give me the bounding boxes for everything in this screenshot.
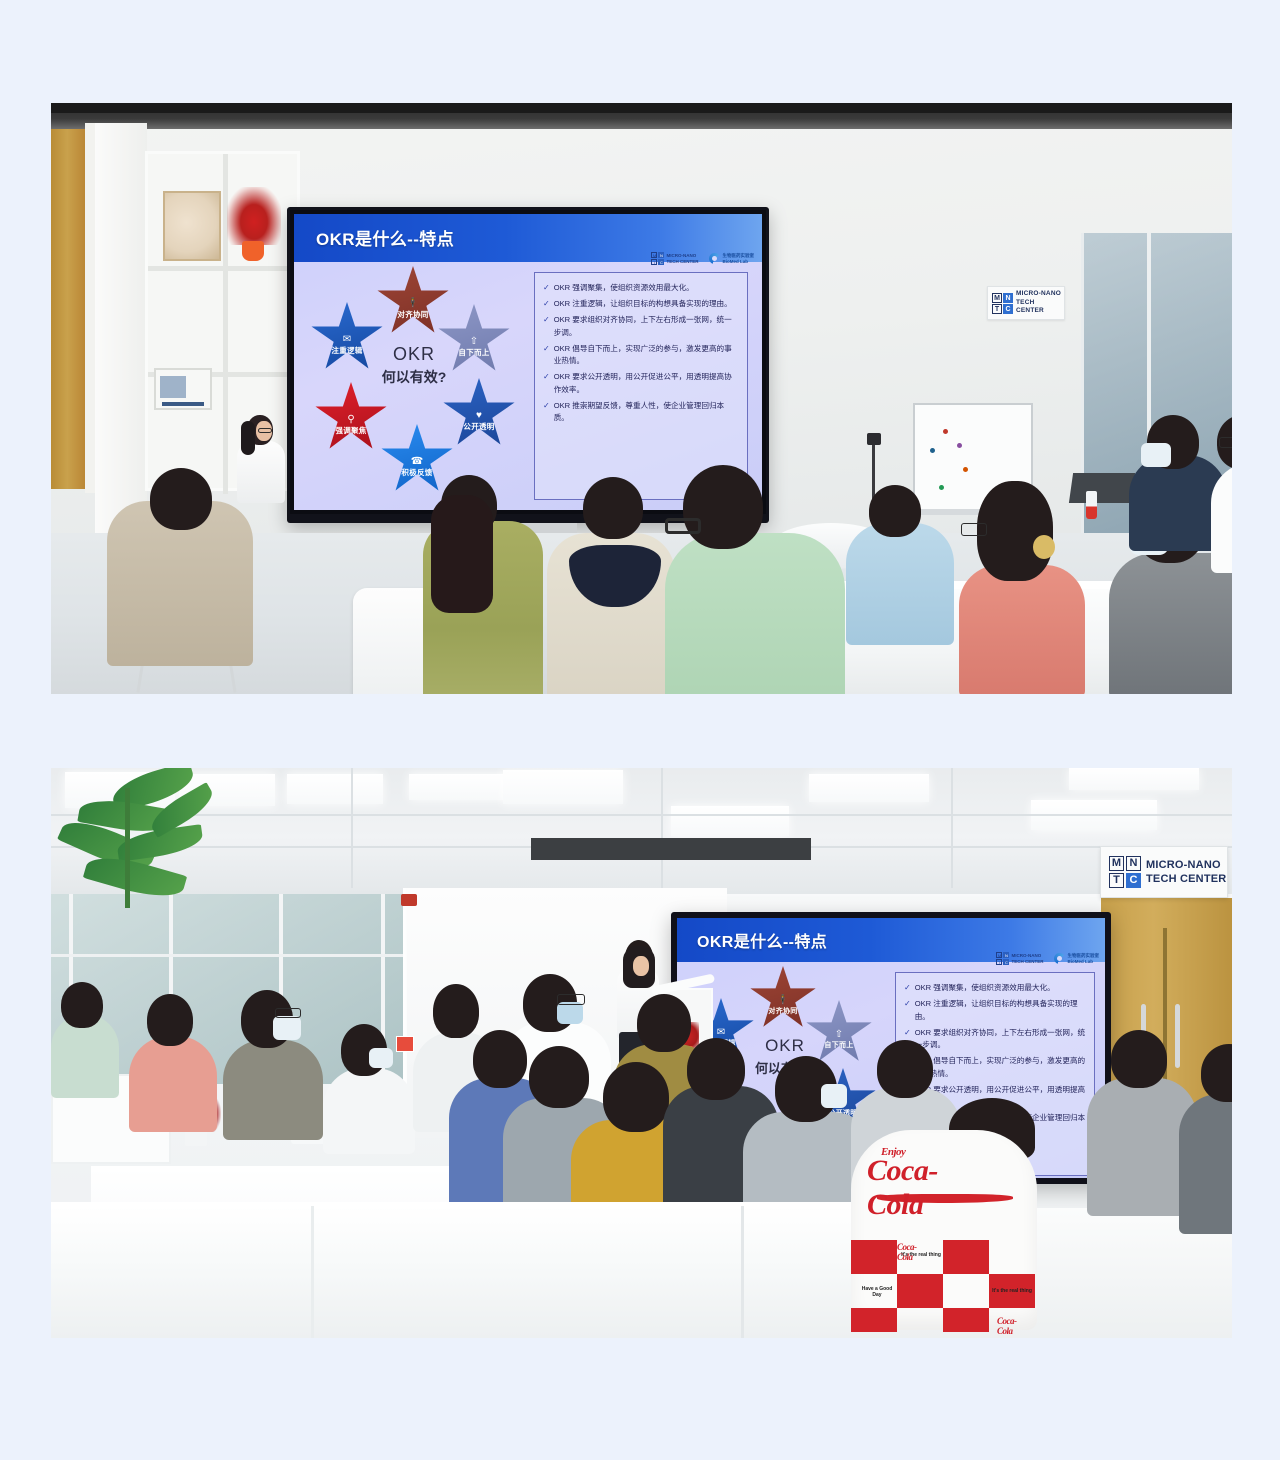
jacket-brand-script: Coca-Cola (867, 1154, 938, 1222)
slide-title: OKR是什么--特点 (697, 928, 827, 952)
sign-line-2: TECH CENTER (1146, 872, 1226, 886)
attendee-head (687, 1038, 745, 1100)
presenter-face (633, 956, 649, 976)
attendee-body (959, 565, 1085, 694)
face-mask (1141, 443, 1171, 467)
mail-icon: ✉ (717, 1027, 725, 1038)
jacket-small-brand: Coca-Cola (897, 1242, 917, 1262)
jacket-slogan: It's the real thing (991, 1288, 1033, 1294)
mail-icon: ✉ (343, 334, 351, 345)
center-line-1: OKR (368, 344, 460, 365)
check-icon: ✓ (543, 371, 550, 396)
ceiling-light-panel (809, 774, 929, 802)
ceiling-grid-line (661, 768, 663, 888)
attendee-hair (431, 495, 493, 613)
ceiling-grid-line (951, 768, 953, 888)
biomed-line-1: 生物医药实验室 (1068, 953, 1100, 959)
okr-star-diagram: 🕴 对齐协同 ⇧ 自下而上 ♥ 公开透明 ☎ 积极反馈 (306, 266, 521, 504)
page-root: OKR是什么--特点 M N T C MICRO-NANO TECH CENTE… (0, 0, 1280, 1460)
check-icon: ✓ (543, 400, 550, 425)
ceiling-grid-line (351, 768, 353, 888)
attendee-head (150, 468, 212, 530)
attendee-glasses (275, 1008, 301, 1018)
magnet-dot (930, 448, 935, 453)
star-label: 对齐协同 (768, 1007, 797, 1016)
fire-alarm-call-point (396, 1036, 414, 1052)
logo-line-2: TECH CENTER (1011, 959, 1043, 965)
bullet-text: OKR 强调聚集，使组织资源效用最大化。 (915, 982, 1055, 995)
ceiling-light-panel (1069, 768, 1199, 790)
sign-line-1: MICRO-NANO (1016, 290, 1064, 299)
face-mask (369, 1048, 393, 1068)
okr-center-label: OKR 何以有效? (368, 344, 460, 387)
wooden-door (51, 129, 87, 489)
slide-title: OKR是什么--特点 (316, 225, 454, 250)
sign-letter-c: C (1003, 304, 1013, 314)
sign-letter-m: M (992, 293, 1002, 303)
mntc-logo-grid: M N T C (992, 293, 1013, 314)
bullet-text: OKR 倡导自下而上，实现广泛的参与，激发更高的事业热情。 (554, 343, 739, 368)
logo-letter-t: T (651, 259, 657, 265)
biomed-line-2: BioMed Lab (723, 259, 755, 265)
attendee-head (61, 982, 103, 1028)
attendee-head (529, 1046, 589, 1108)
attendee-head (473, 1030, 527, 1088)
magnet-dot (957, 443, 962, 448)
check-square (943, 1308, 989, 1332)
attendee-head (603, 1062, 669, 1132)
biomed-line-1: 生物医药实验室 (723, 253, 755, 259)
ceiling-edge (51, 103, 1232, 113)
bullet-text: OKR 要求组织对齐协同，上下左右形成一张网，统一步调。 (915, 1027, 1086, 1052)
star-label: 注重逻辑 (331, 346, 362, 355)
check-icon: ✓ (543, 314, 550, 339)
attendee-head (877, 1040, 933, 1098)
star-label: 积极反馈 (401, 468, 432, 477)
biomed-line-2: BioMed Lab (1068, 959, 1100, 965)
door-handle (1175, 1004, 1180, 1068)
logo-letter-n: N (658, 252, 664, 258)
list-item: ✓OKR 要求组织对齐协同，上下左右形成一张网，统一步调。 (904, 1027, 1086, 1052)
search-icon: ⚲ (347, 414, 354, 425)
attendee-head (637, 994, 691, 1052)
bullet-text: OKR 注重逻辑，让组织目标的构想具备实现的理由。 (554, 298, 732, 311)
people-icon: 🕴 (777, 995, 789, 1006)
face-mask (557, 1002, 583, 1024)
attendee-body (323, 1068, 415, 1154)
list-item: ✓OKR 注重逻辑，让组织目标的构想具备实现的理由。 (904, 998, 1086, 1023)
check-square (851, 1308, 897, 1332)
attendee-glasses (557, 994, 585, 1005)
list-item: ✓OKR 推崇期望反馈，尊重人性，使企业管理回归本质。 (543, 400, 739, 425)
sign-letter-m: M (1109, 856, 1124, 871)
biomed-lab-logo: 生物医药实验室 BioMed Lab (1054, 953, 1100, 964)
red-flowers (227, 187, 281, 245)
star-open-transparent: ♥ 公开透明 (442, 378, 516, 448)
magnet-dot (943, 429, 948, 434)
attendee-head (977, 481, 1053, 581)
sign-line-2: TECH CENTER (1016, 299, 1064, 316)
attendee-glasses (665, 518, 701, 534)
list-item: ✓OKR 强调聚集，使组织资源效用最大化。 (543, 282, 739, 295)
heart-icon: ♥ (476, 410, 482, 421)
check-icon: ✓ (543, 298, 550, 311)
star-label: 对齐协同 (397, 310, 428, 319)
biomed-mark-icon (709, 253, 720, 264)
attendee-body (846, 523, 954, 645)
bench-front-edge (51, 1202, 851, 1208)
photo-room-wide: OKR是什么--特点 M N T C MICRO-NANO TECH CENTE… (51, 768, 1232, 1338)
venue-sign: M N T C MICRO-NANO TECH CENTER (1100, 846, 1228, 898)
check-square (897, 1274, 943, 1308)
bullet-text: OKR 要求公开透明，用公开促进公平，用透明提高协作效率。 (554, 371, 739, 396)
bullet-text: OKR 注重逻辑，让组织目标的构想具备实现的理由。 (915, 998, 1086, 1023)
fire-alarm-indicator (401, 894, 417, 906)
attendee-head (147, 994, 193, 1046)
bullet-text: OKR 倡导自下而上，实现广泛的参与，激发更高的事业热情。 (915, 1055, 1086, 1080)
sign-letter-t: T (1109, 873, 1124, 888)
star-align-collaborate: 🕴 对齐协同 (376, 266, 450, 336)
slide-logos: M N T C MICRO-NANO TECH CENTER (651, 252, 754, 265)
up-arrow-icon: ⇧ (470, 336, 478, 347)
bullet-text: OKR 强调聚集，使组织资源效用最大化。 (554, 282, 694, 295)
ceiling-light-panel (671, 806, 789, 836)
center-line-2: 何以有效? (368, 367, 460, 387)
check-icon: ✓ (904, 998, 911, 1023)
bullet-text: OKR 要求组织对齐协同，上下左右形成一张网，统一步调。 (554, 314, 739, 339)
attendee-head (1111, 1030, 1167, 1088)
glass-rail (51, 954, 411, 957)
presenter-glasses (258, 428, 272, 433)
list-item: ✓OKR 要求组织对齐协同，上下左右形成一张网，统一步调。 (543, 314, 739, 339)
check-icon: ✓ (543, 282, 550, 295)
star-label: 自下而上 (458, 348, 489, 357)
face-mask (273, 1016, 301, 1040)
attendee-glasses (961, 523, 987, 536)
check-square (851, 1240, 897, 1274)
bench-seam (311, 1206, 314, 1338)
logo-letter-n: N (1003, 952, 1009, 958)
check-icon: ✓ (904, 982, 911, 995)
presenter-hair (241, 421, 255, 455)
list-item: ✓OKR 倡导自下而上，实现广泛的参与，激发更高的事业热情。 (543, 343, 739, 368)
venue-sign: M N T C MICRO-NANO TECH CENTER (987, 286, 1065, 320)
photo-presentation-closeup: OKR是什么--特点 M N T C MICRO-NANO TECH CENTE… (51, 103, 1232, 694)
star-active-feedback: ☎ 积极反馈 (380, 424, 454, 494)
bench-seam (741, 1206, 744, 1338)
sign-line-1: MICRO-NANO (1146, 858, 1226, 872)
check-icon: ✓ (543, 343, 550, 368)
magnet-dot (939, 485, 944, 490)
attendee-head (869, 485, 921, 537)
star-align-collaborate: 🕴 对齐协同 (749, 966, 817, 1030)
attendee-body (1179, 1094, 1232, 1234)
list-item: ✓OKR 强调聚集，使组织资源效用最大化。 (904, 982, 1086, 995)
hair-clip (1033, 535, 1055, 559)
camera-head (867, 433, 881, 445)
phone-icon: ☎ (411, 456, 423, 467)
attendee-head (683, 465, 763, 549)
ceiling-vent (531, 838, 811, 860)
attendee-body (223, 1040, 323, 1140)
sign-letter-n: N (1003, 293, 1013, 303)
sign-letter-t: T (992, 304, 1002, 314)
water-bottle (1086, 491, 1097, 519)
bench-front-face (51, 1206, 851, 1338)
dried-flower-artwork (163, 191, 221, 261)
sign-letter-n: N (1126, 856, 1141, 871)
laptop (1069, 473, 1135, 503)
attendee-head (433, 984, 479, 1038)
ceiling-grid-line (51, 814, 1232, 816)
okr-slide: OKR是什么--特点 M N T C MICRO-NANO TECH CENTE… (294, 214, 762, 510)
check-square (943, 1240, 989, 1274)
ceiling-light-panel (503, 770, 623, 804)
logo-line-1: MICRO-NANO (666, 253, 698, 259)
list-item: ✓OKR 要求公开透明，用公开促进公平，用透明提高协作效率。 (543, 371, 739, 396)
face-mask (821, 1084, 847, 1108)
logo-line-1: MICRO-NANO (1011, 953, 1043, 959)
slide-logos: M N T C MICRO-NANO TECH CENTER (996, 952, 1099, 965)
logo-letter-m: M (651, 252, 657, 258)
logo-letter-t: T (996, 959, 1002, 965)
micro-nano-tech-center-logo: M N T C MICRO-NANO TECH CENTER (651, 252, 698, 265)
biomed-lab-logo: 生物医药实验室 BioMed Lab (709, 253, 755, 264)
attendee-body-denim (1109, 553, 1232, 694)
sign-letter-c: C (1126, 873, 1141, 888)
logo-line-2: TECH CENTER (666, 259, 698, 265)
magnet-dot (963, 467, 968, 472)
ceiling-light-panel (409, 774, 509, 800)
logo-letter-m: M (996, 952, 1002, 958)
star-emphasize-focus: ⚲ 强调聚焦 (314, 382, 388, 452)
jacket-slogan: Have a Good Day (857, 1286, 897, 1298)
attendee-head (583, 477, 643, 539)
picture-frame (154, 368, 212, 410)
list-item: ✓OKR 注重逻辑，让组织目标的构想具备实现的理由。 (543, 298, 739, 311)
center-line-1: OKR (741, 1036, 829, 1056)
logo-letter-c: C (658, 259, 664, 265)
attendee-body (129, 1036, 217, 1132)
attendee-body (665, 533, 845, 694)
mntc-logo-grid: M N T C (1109, 856, 1141, 888)
wall-pillar (95, 123, 147, 553)
micro-nano-tech-center-logo: M N T C MICRO-NANO TECH CENTER (996, 952, 1043, 965)
bullet-text: OKR 推崇期望反馈，尊重人性，使企业管理回归本质。 (554, 400, 739, 425)
biomed-mark-icon (1054, 953, 1065, 964)
ceiling-light-panel (287, 774, 383, 804)
star-label: 公开透明 (463, 422, 494, 431)
jacket-small-brand: Coca-Cola (997, 1316, 1017, 1336)
people-icon: 🕴 (407, 298, 419, 309)
attendee-glasses (1219, 437, 1232, 448)
star-label: 强调聚焦 (335, 426, 366, 435)
up-arrow-icon: ⇧ (835, 1029, 843, 1040)
orange-vase (242, 241, 264, 261)
logo-letter-c: C (1003, 959, 1009, 965)
